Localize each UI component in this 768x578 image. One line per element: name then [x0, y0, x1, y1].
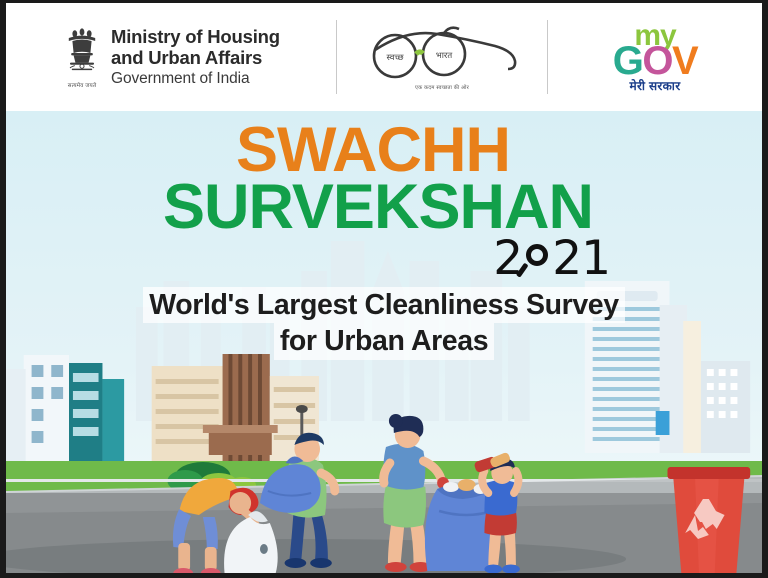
ministry-line-2: and Urban Affairs [111, 48, 280, 69]
magnifier-icon [522, 235, 552, 282]
year-badge: 2 21 [493, 235, 610, 282]
emblem-motto: सत्यमेव जयते [68, 81, 97, 89]
svg-text:स्वच्छ: स्वच्छ [386, 52, 404, 62]
mygov-gov-text: GOV [613, 43, 697, 79]
logo-header-bar: सत्यमेव जयते Ministry of Housing and Urb… [6, 3, 762, 111]
mygov-hindi-text: मेरी सरकार [630, 81, 681, 92]
swachh-survekshan-poster: सत्यमेव जयते Ministry of Housing and Urb… [0, 0, 768, 578]
gandhi-glasses-icon: स्वच्छ भारत [355, 23, 530, 81]
campaign-banner: SWACHH SURVEKSHAN 2 21 World's Largest C… [6, 111, 762, 573]
ministry-line-3: Government of India [111, 70, 280, 87]
india-state-emblem-icon: सत्यमेव जयते [64, 26, 100, 89]
ministry-logo-block: सत्यमेव जयते Ministry of Housing and Urb… [6, 3, 336, 111]
svg-text:भारत: भारत [435, 50, 452, 60]
swachh-bharat-logo-block: स्वच्छ भारत एक कदम स्वच्छता की ओर [337, 3, 547, 111]
ministry-name: Ministry of Housing and Urban Affairs Go… [111, 27, 280, 87]
ministry-line-1: Ministry of Housing [111, 27, 280, 48]
swachh-bharat-tagline: एक कदम स्वच्छता की ओर [415, 83, 469, 91]
year-suffix: 21 [552, 235, 610, 282]
city-cleanup-illustration [6, 111, 762, 573]
mygov-logo-block: my GOV मेरी सरकार [548, 3, 762, 111]
